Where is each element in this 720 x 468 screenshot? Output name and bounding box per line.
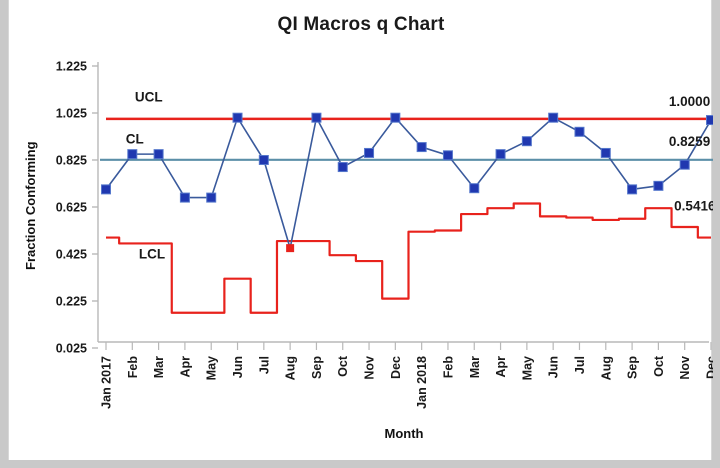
data-point[interactable]	[707, 116, 714, 125]
chart-plot-area: 1.2251.0250.8250.6250.4250.2250.025 UCLC…	[9, 0, 713, 460]
data-point[interactable]	[207, 193, 216, 202]
y-axis-title: Fraction Conforming	[23, 141, 38, 270]
x-tick-label: Jan 2018	[415, 356, 429, 409]
x-axis-ticks	[106, 342, 711, 350]
x-tick-label: Mar	[152, 356, 166, 378]
data-series-line	[106, 118, 711, 248]
y-tick-label: 1.025	[56, 107, 87, 121]
x-tick-label: Sep	[626, 356, 640, 379]
data-point[interactable]	[365, 148, 374, 157]
chart-svg: 1.2251.0250.8250.6250.4250.2250.025 UCLC…	[9, 0, 713, 460]
x-tick-label: Dec	[389, 356, 403, 379]
data-series-markers[interactable]	[102, 113, 714, 251]
data-point[interactable]	[575, 127, 584, 136]
x-axis-labels: Jan 2017FebMarAprMayJunJulAugSepOctNovDe…	[100, 355, 714, 409]
x-tick-label: Jul	[573, 356, 587, 374]
data-point[interactable]	[443, 151, 452, 160]
x-tick-label: Sep	[310, 356, 324, 379]
data-point[interactable]	[154, 150, 163, 159]
y-tick-label: 0.825	[56, 154, 87, 168]
data-point[interactable]	[259, 156, 268, 165]
x-tick-label: May	[520, 356, 534, 380]
x-tick-label: Jan 2017	[100, 356, 114, 409]
cl-value-label: 0.8259	[669, 134, 710, 149]
cl-label: CL	[126, 132, 144, 147]
y-tick-label: 0.225	[56, 295, 87, 309]
x-tick-label: Feb	[126, 356, 140, 379]
lcl-value-label: 0.5416	[674, 199, 713, 214]
y-tick-label: 0.625	[56, 201, 87, 215]
y-tick-label: 0.425	[56, 248, 87, 262]
data-point[interactable]	[338, 163, 347, 172]
data-point[interactable]	[549, 113, 558, 122]
data-point[interactable]	[680, 160, 689, 169]
x-tick-label: Jul	[257, 356, 271, 374]
series-path	[106, 118, 711, 248]
x-tick-label: Jun	[231, 356, 245, 378]
lcl-label: LCL	[139, 247, 165, 262]
data-point[interactable]	[128, 150, 137, 159]
data-point-out-of-control[interactable]	[287, 245, 294, 252]
data-point[interactable]	[391, 113, 400, 122]
x-tick-label: Nov	[363, 356, 377, 380]
y-axis-ticks: 1.2251.0250.8250.6250.4250.2250.025	[56, 60, 98, 356]
x-tick-label: Apr	[178, 356, 192, 378]
data-point[interactable]	[312, 113, 321, 122]
chart-frame: QI Macros q Chart 1.2251.0250.8250.6250.…	[8, 0, 712, 460]
data-point[interactable]	[233, 113, 242, 122]
ucl-label: UCL	[135, 89, 163, 104]
data-point[interactable]	[417, 143, 426, 152]
data-point[interactable]	[180, 193, 189, 202]
data-point[interactable]	[470, 184, 479, 193]
y-tick-label: 0.025	[56, 342, 87, 356]
ucl-value-label: 1.0000	[669, 94, 710, 109]
lcl-step-line	[106, 203, 711, 312]
data-point[interactable]	[654, 181, 663, 190]
data-point[interactable]	[102, 185, 111, 194]
x-tick-label: Apr	[494, 356, 508, 378]
x-tick-label: Mar	[468, 356, 482, 378]
chart-annotations: UCLCLLCL1.00000.82590.5416	[126, 89, 713, 261]
data-point[interactable]	[522, 137, 531, 146]
data-point[interactable]	[601, 148, 610, 157]
data-point[interactable]	[628, 185, 637, 194]
x-axis-title: Month	[385, 426, 424, 441]
x-tick-label: Dec	[705, 356, 714, 379]
data-point[interactable]	[496, 150, 505, 159]
x-tick-label: Nov	[678, 356, 692, 380]
x-tick-label: Oct	[652, 355, 666, 377]
x-tick-label: Oct	[336, 355, 350, 377]
x-tick-label: Feb	[441, 356, 455, 379]
x-tick-label: Aug	[284, 356, 298, 380]
y-tick-label: 1.225	[56, 60, 87, 74]
x-tick-label: Aug	[599, 356, 613, 380]
x-tick-label: Jun	[547, 356, 561, 378]
lcl-path	[106, 203, 711, 312]
x-tick-label: May	[205, 356, 219, 380]
